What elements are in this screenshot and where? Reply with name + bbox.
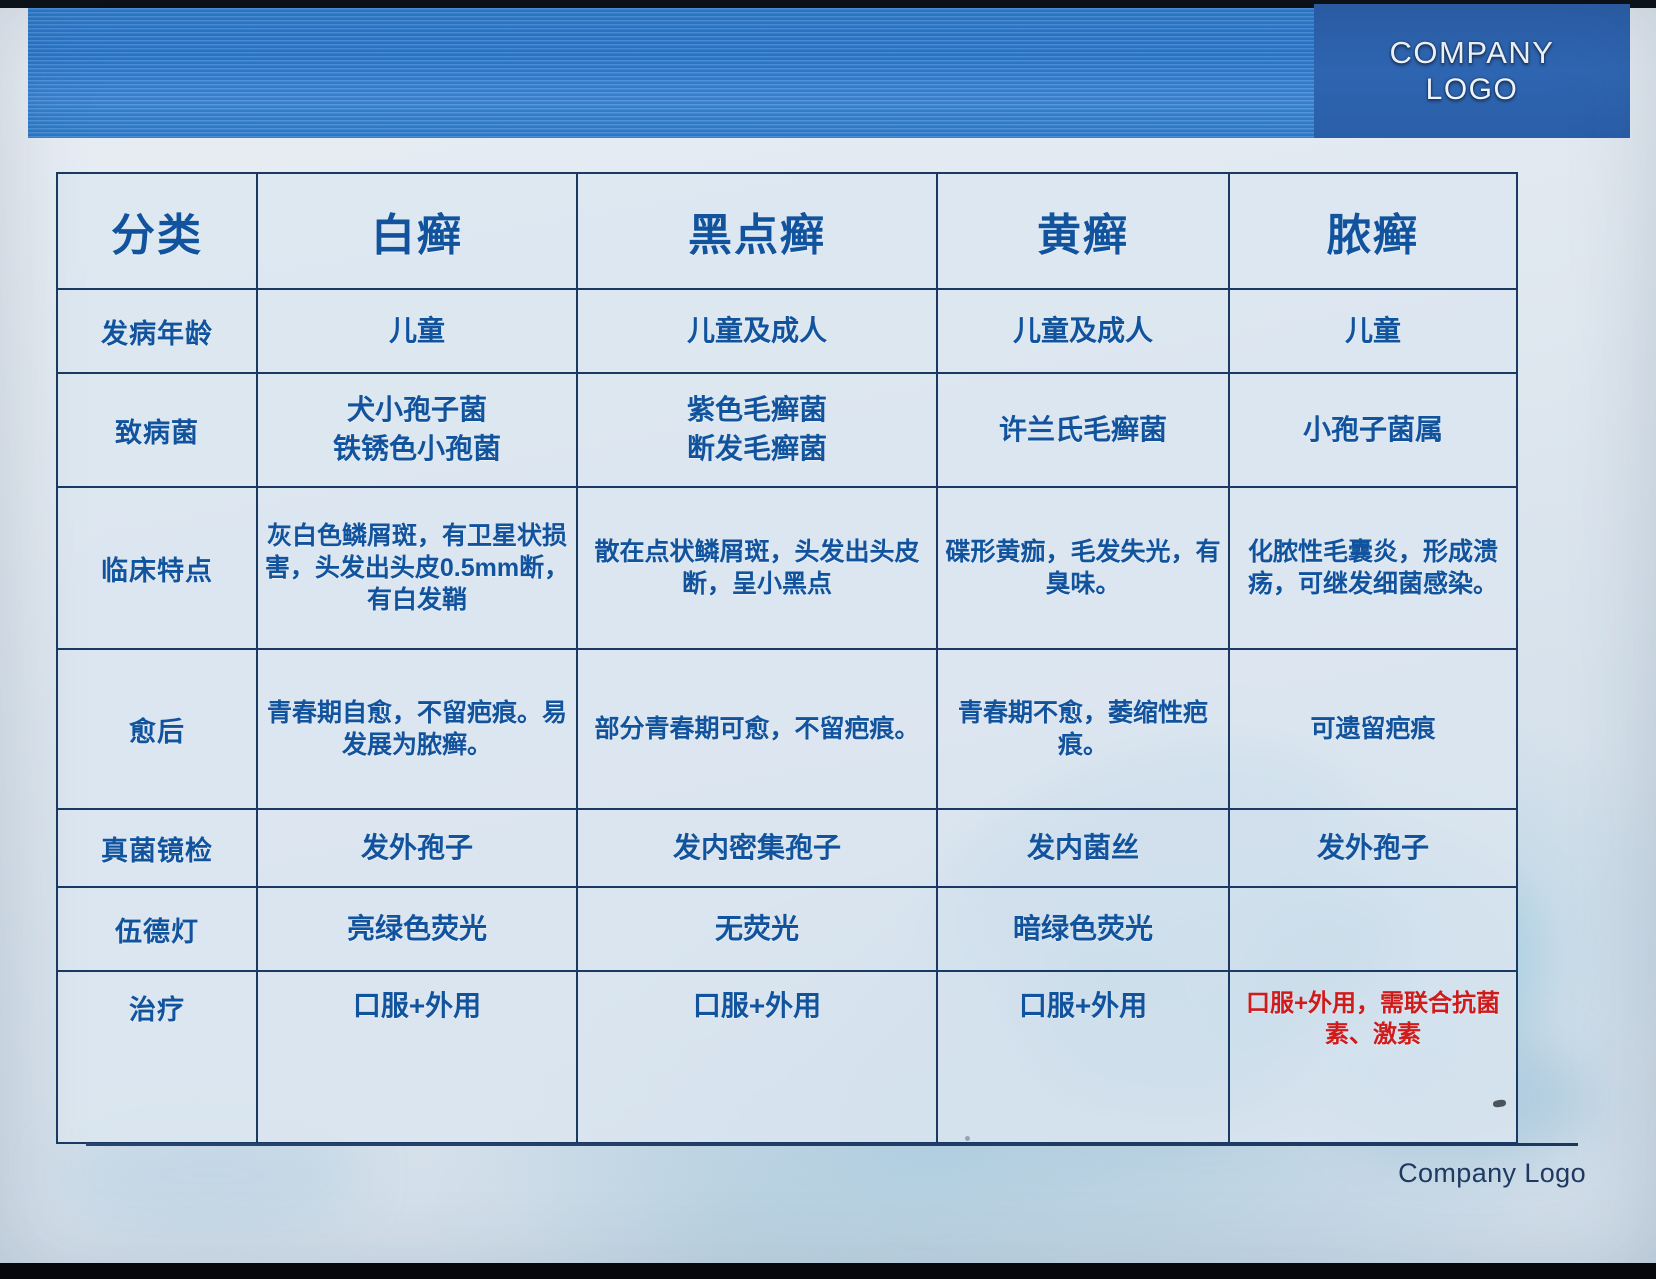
column-header-baixuan: 白癣 <box>257 173 577 289</box>
column-header-huangxuan: 黄癣 <box>937 173 1229 289</box>
cell-clinical-nongxuan: 化脓性毛囊炎，形成溃疡，可继发细菌感染。 <box>1229 487 1517 649</box>
cell-treatment-baixuan: 口服+外用 <box>257 971 577 1143</box>
cell-microscopy-baixuan: 发外孢子 <box>257 809 577 887</box>
column-header-nongxuan: 脓癣 <box>1229 173 1517 289</box>
cell-treatment-nongxuan: 口服+外用，需联合抗菌素、激素 <box>1229 971 1517 1143</box>
cell-woods-baixuan: 亮绿色荧光 <box>257 887 577 971</box>
cell-woods-heidianxuan: 无荧光 <box>577 887 937 971</box>
cell-woods-huangxuan: 暗绿色荧光 <box>937 887 1229 971</box>
cell-microscopy-heidianxuan: 发内密集孢子 <box>577 809 937 887</box>
cell-pathogen-heidianxuan: 紫色毛癣菌断发毛癣菌 <box>577 373 937 487</box>
table-row: 临床特点 灰白色鳞屑斑，有卫星状损害，头发出头皮0.5mm断，有白发鞘 散在点状… <box>57 487 1517 649</box>
cell-pathogen-huangxuan: 许兰氏毛癣菌 <box>937 373 1229 487</box>
column-header-category: 分类 <box>57 173 257 289</box>
table-row: 真菌镜检 发外孢子 发内密集孢子 发内菌丝 发外孢子 <box>57 809 1517 887</box>
table-row: 致病菌 犬小孢子菌铁锈色小孢菌 紫色毛癣菌断发毛癣菌 许兰氏毛癣菌 小孢子菌属 <box>57 373 1517 487</box>
cell-pathogen-nongxuan: 小孢子菌属 <box>1229 373 1517 487</box>
comparison-table-wrapper: 分类 白癣 黑点癣 黄癣 脓癣 发病年龄 儿童 儿童及成人 儿童及成人 儿童 致… <box>56 172 1516 1144</box>
column-header-heidianxuan: 黑点癣 <box>577 173 937 289</box>
cell-onset-age-nongxuan: 儿童 <box>1229 289 1517 373</box>
header-band <box>28 8 1314 138</box>
table-row: 伍德灯 亮绿色荧光 无荧光 暗绿色荧光 <box>57 887 1517 971</box>
cell-prognosis-nongxuan: 可遗留疤痕 <box>1229 649 1517 809</box>
row-label-pathogen: 致病菌 <box>57 373 257 487</box>
row-label-treatment: 治疗 <box>57 971 257 1143</box>
footer-divider <box>86 1143 1578 1146</box>
cell-microscopy-huangxuan: 发内菌丝 <box>937 809 1229 887</box>
company-logo-line1: COMPANY <box>1390 35 1555 72</box>
table-row: 治疗 口服+外用 口服+外用 口服+外用 口服+外用，需联合抗菌素、激素 <box>57 971 1517 1143</box>
slide-canvas: COMPANY LOGO 分类 白癣 黑点癣 黄癣 脓癣 发病年龄 儿童 <box>0 0 1656 1279</box>
company-logo-block: COMPANY LOGO <box>1314 4 1630 138</box>
cell-onset-age-baixuan: 儿童 <box>257 289 577 373</box>
table-header-row: 分类 白癣 黑点癣 黄癣 脓癣 <box>57 173 1517 289</box>
cell-microscopy-nongxuan: 发外孢子 <box>1229 809 1517 887</box>
cell-pathogen-baixuan: 犬小孢子菌铁锈色小孢菌 <box>257 373 577 487</box>
table-row: 发病年龄 儿童 儿童及成人 儿童及成人 儿童 <box>57 289 1517 373</box>
row-label-onset-age: 发病年龄 <box>57 289 257 373</box>
cell-clinical-huangxuan: 碟形黄痂，毛发失光，有臭味。 <box>937 487 1229 649</box>
tinea-capitis-comparison-table: 分类 白癣 黑点癣 黄癣 脓癣 发病年龄 儿童 儿童及成人 儿童及成人 儿童 致… <box>56 172 1518 1144</box>
cell-onset-age-heidianxuan: 儿童及成人 <box>577 289 937 373</box>
row-label-clinical-features: 临床特点 <box>57 487 257 649</box>
row-label-prognosis: 愈后 <box>57 649 257 809</box>
cell-treatment-huangxuan: 口服+外用 <box>937 971 1229 1143</box>
row-label-woods-lamp: 伍德灯 <box>57 887 257 971</box>
cell-prognosis-heidianxuan: 部分青春期可愈，不留疤痕。 <box>577 649 937 809</box>
row-label-fungal-microscopy: 真菌镜检 <box>57 809 257 887</box>
image-speck <box>965 1136 970 1141</box>
cell-woods-nongxuan <box>1229 887 1517 971</box>
cell-prognosis-huangxuan: 青春期不愈，萎缩性疤痕。 <box>937 649 1229 809</box>
bottom-letterbox-bar <box>0 1263 1656 1279</box>
cell-clinical-heidianxuan: 散在点状鳞屑斑，头发出头皮断，呈小黑点 <box>577 487 937 649</box>
cell-treatment-heidianxuan: 口服+外用 <box>577 971 937 1143</box>
cell-onset-age-huangxuan: 儿童及成人 <box>937 289 1229 373</box>
company-logo-line2: LOGO <box>1426 72 1519 107</box>
footer-company-logo-text: Company Logo <box>1398 1158 1586 1189</box>
cell-clinical-baixuan: 灰白色鳞屑斑，有卫星状损害，头发出头皮0.5mm断，有白发鞘 <box>257 487 577 649</box>
cell-prognosis-baixuan: 青春期自愈，不留疤痕。易发展为脓癣。 <box>257 649 577 809</box>
table-row: 愈后 青春期自愈，不留疤痕。易发展为脓癣。 部分青春期可愈，不留疤痕。 青春期不… <box>57 649 1517 809</box>
